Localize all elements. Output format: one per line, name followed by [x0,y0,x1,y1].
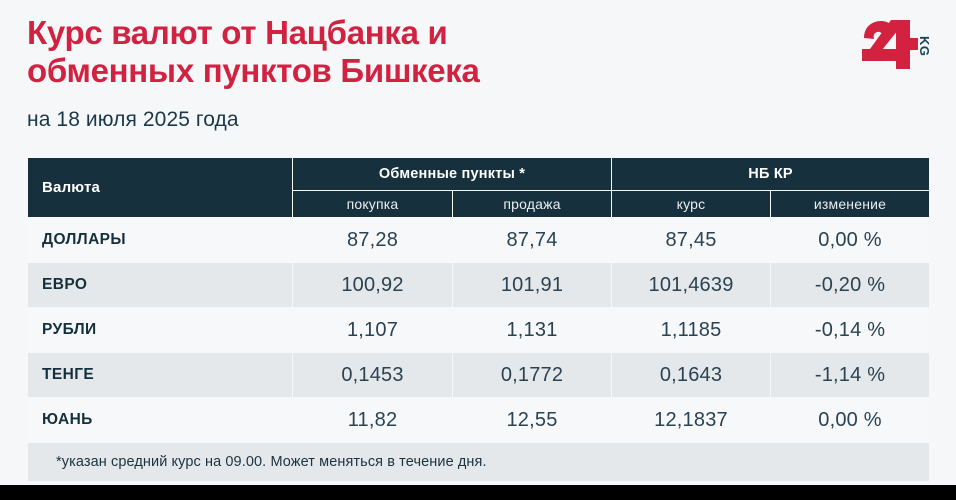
header-block: Курс валют от Нацбанка и обменных пункто… [27,14,857,132]
cell-rate: 1,1185 [612,308,771,353]
cell-currency-name: ТЕНГЕ [28,353,293,398]
table-group-header-row: Валюта Обменные пункты * НБ КР [28,158,930,191]
cell-buy: 87,28 [293,218,453,263]
bottom-bar [0,485,956,500]
column-header-change: изменение [771,191,930,218]
column-group-header-national-bank: НБ КР [612,158,930,191]
cell-currency-name: ЮАНЬ [28,398,293,443]
cell-buy: 100,92 [293,263,453,308]
table-footnote: *указан средний курс на 09.00. Может мен… [28,443,930,482]
infographic-page: Курс валют от Нацбанка и обменных пункто… [0,0,956,500]
column-header-sell: продажа [453,191,612,218]
table-row: ДОЛЛАРЫ 87,28 87,74 87,45 0,00 % [28,218,930,263]
table-footnote-row: *указан средний курс на 09.00. Может мен… [28,443,930,482]
cell-rate: 87,45 [612,218,771,263]
cell-currency-name: ЕВРО [28,263,293,308]
cell-change: 0,00 % [771,218,930,263]
cell-change: 0,00 % [771,398,930,443]
cell-sell: 87,74 [453,218,612,263]
table-row: ЮАНЬ 11,82 12,55 12,1837 0,00 % [28,398,930,443]
rates-table-container: Валюта Обменные пункты * НБ КР покупка п… [27,157,929,482]
cell-rate: 12,1837 [612,398,771,443]
cell-change: -0,20 % [771,263,930,308]
column-header-buy: покупка [293,191,453,218]
table-foot: *указан средний курс на 09.00. Может мен… [28,443,930,482]
table-body: ДОЛЛАРЫ 87,28 87,74 87,45 0,00 % ЕВРО 10… [28,218,930,443]
cell-sell: 0,1772 [453,353,612,398]
brand-logo: KG [860,18,932,74]
cell-buy: 1,107 [293,308,453,353]
cell-currency-name: ДОЛЛАРЫ [28,218,293,263]
column-header-rate: курс [612,191,771,218]
cell-change: -1,14 % [771,353,930,398]
currency-rates-table: Валюта Обменные пункты * НБ КР покупка п… [27,157,930,482]
cell-buy: 0,1453 [293,353,453,398]
cell-sell: 1,131 [453,308,612,353]
column-group-header-exchange-offices: Обменные пункты * [293,158,612,191]
table-row: ТЕНГЕ 0,1453 0,1772 0,1643 -1,14 % [28,353,930,398]
table-head: Валюта Обменные пункты * НБ КР покупка п… [28,158,930,218]
cell-buy: 11,82 [293,398,453,443]
page-title: Курс валют от Нацбанка и обменных пункто… [27,14,857,90]
svg-text:KG: KG [917,36,932,57]
cell-rate: 0,1643 [612,353,771,398]
page-subtitle: на 18 июля 2025 года [27,108,857,132]
cell-currency-name: РУБЛИ [28,308,293,353]
cell-sell: 12,55 [453,398,612,443]
table-row: ЕВРО 100,92 101,91 101,4639 -0,20 % [28,263,930,308]
column-header-currency: Валюта [28,158,293,218]
table-row: РУБЛИ 1,107 1,131 1,1185 -0,14 % [28,308,930,353]
cell-rate: 101,4639 [612,263,771,308]
cell-sell: 101,91 [453,263,612,308]
24kg-logo-icon: KG [860,18,932,74]
cell-change: -0,14 % [771,308,930,353]
